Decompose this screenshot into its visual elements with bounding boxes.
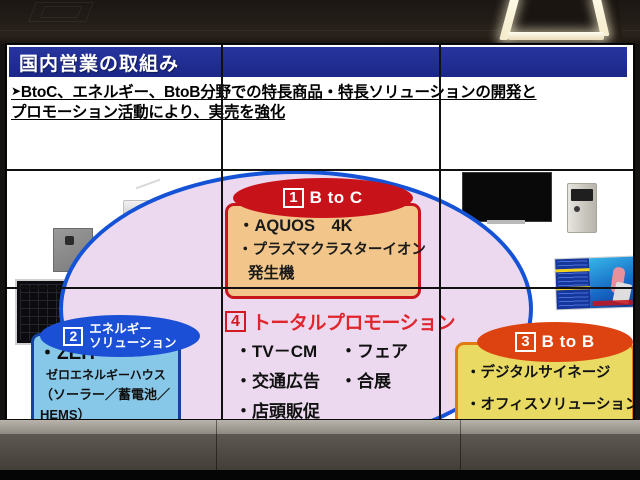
slide-body-text: ➤BtoC、エネルギー、BtoB分野での特長商品・特長ソリューションの開発と プ… xyxy=(11,81,627,123)
ledge-seam xyxy=(460,420,461,470)
promotion-columns: ・TV－CM ・交通広告 ・店頭販促 ・フェア ・合展 xyxy=(235,337,408,419)
body-line-2: プロモーション活動により、実売を強化 xyxy=(11,103,627,123)
ceiling-light-bar xyxy=(508,32,604,40)
wall-right-edge xyxy=(634,44,640,434)
energy-pill-header: 2 エネルギー ソリューション xyxy=(40,315,200,357)
signage-caption-bar xyxy=(593,300,633,306)
video-wall: 国内営業の取組み ➤BtoC、エネルギー、BtoB分野での特長商品・特長ソリュー… xyxy=(6,44,634,420)
energy-item-2: （ソーラー／蓄電池／HEMS） xyxy=(38,385,178,419)
bullet-arrow-icon: ➤ xyxy=(11,84,21,98)
purifier-panel-icon xyxy=(571,189,593,201)
promotion-header: 4 トータルプロモーション xyxy=(225,308,455,335)
promotion-number: 4 xyxy=(225,311,246,332)
promotion-right-item-0: ・フェア xyxy=(340,337,408,367)
energy-label: エネルギー ソリューション xyxy=(89,322,176,350)
body-line-1-text: BtoC、エネルギー、BtoB分野での特長商品・特長ソリューションの開発と xyxy=(21,84,537,101)
energy-label-line2: ソリューション xyxy=(89,336,176,350)
digital-signage-photo xyxy=(554,256,633,311)
ledge-front xyxy=(0,434,640,470)
ledge-seam xyxy=(216,420,217,470)
btoc-item-2: 発生機 xyxy=(238,262,418,286)
tv-stand-icon xyxy=(487,220,525,224)
air-purifier-photo xyxy=(567,183,597,233)
ceiling-tile-diamond xyxy=(40,6,83,18)
btob-item-1: ・オフィスソリューション xyxy=(466,389,632,419)
btoc-pill-header: 1 B to C xyxy=(233,178,413,218)
promotion-right-item-1: ・合展 xyxy=(340,367,408,397)
promotion-left-item-1: ・交通広告 xyxy=(235,367,320,397)
router-antenna-icon xyxy=(135,179,160,190)
energy-item-1: ゼロエネルギーハウス xyxy=(38,366,178,385)
battery-panel-icon xyxy=(65,236,74,245)
slide-header-bar: 国内営業の取組み xyxy=(9,47,627,77)
body-line-1: ➤BtoC、エネルギー、BtoB分野での特長商品・特長ソリューションの開発と xyxy=(11,81,627,103)
signage-rows-icon xyxy=(557,260,589,307)
page-title: 国内営業の取組み xyxy=(9,49,179,76)
btob-label: B to B xyxy=(542,332,595,352)
btoc-item-1: ・プラズマクラスターイオン xyxy=(238,238,418,262)
energy-label-line1: エネルギー xyxy=(89,322,176,336)
promotion-left-item-0: ・TV－CM xyxy=(235,337,320,367)
promotion-column-left: ・TV－CM ・交通広告 ・店頭販促 xyxy=(235,337,320,419)
btoc-label: B to C xyxy=(310,188,363,208)
promotion-left-item-2: ・店頭販促 xyxy=(235,397,320,419)
presentation-slide: 国内営業の取組み ➤BtoC、エネルギー、BtoB分野での特長商品・特長ソリュー… xyxy=(7,45,633,419)
floor-shadow xyxy=(0,470,640,480)
btob-pill-header: 3 B to B xyxy=(477,322,633,362)
promotion-column-right: ・フェア ・合展 xyxy=(340,337,408,419)
purifier-sensor-icon xyxy=(574,206,580,212)
ceiling-light-inner xyxy=(516,0,598,30)
btob-number: 3 xyxy=(515,332,535,352)
screenshot-root: 国内営業の取組み ➤BtoC、エネルギー、BtoB分野での特長商品・特長ソリュー… xyxy=(0,0,640,480)
signage-flightboard xyxy=(555,258,591,309)
flat-tv-photo xyxy=(462,172,552,222)
ledge-top-surface xyxy=(0,420,640,434)
btoc-number: 1 xyxy=(283,188,303,208)
energy-number: 2 xyxy=(63,327,83,346)
promotion-title: トータルプロモーション xyxy=(252,308,455,335)
signage-travel-ad xyxy=(589,257,633,308)
